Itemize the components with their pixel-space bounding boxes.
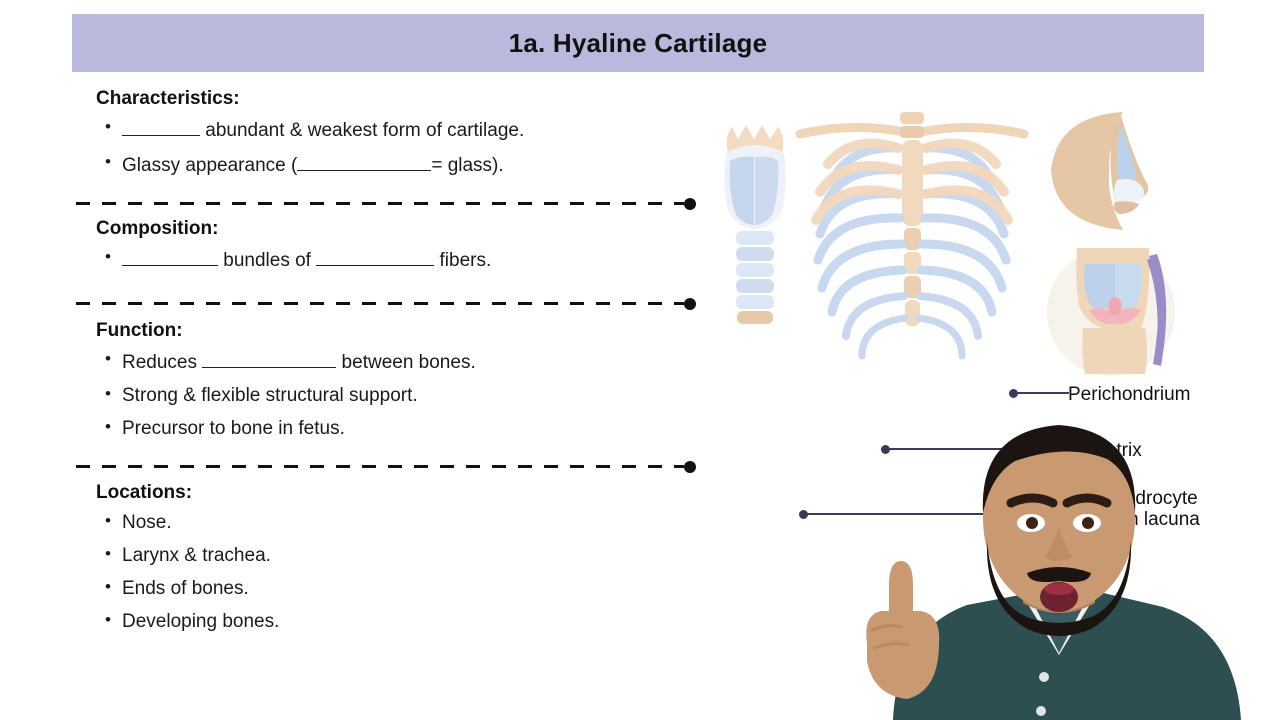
list-item: abundant & weakest form of cartilage. — [96, 116, 524, 145]
section-divider — [76, 202, 684, 205]
section-function: Function: Reduces between bones. Strong … — [96, 320, 476, 449]
leader-dot — [1009, 389, 1018, 398]
bullet-list: Nose. Larynx & trachea. Ends of bones. D… — [96, 510, 279, 636]
larynx-trachea-illustration — [714, 115, 804, 330]
fill-blank[interactable] — [122, 116, 200, 136]
section-heading: Characteristics: — [96, 88, 524, 110]
list-item: Strong & flexible structural support. — [96, 383, 476, 410]
divider-dot — [684, 298, 696, 310]
divider-dot — [684, 461, 696, 473]
divider-dot — [684, 198, 696, 210]
bullet-list: bundles of fibers. — [96, 246, 491, 275]
section-divider — [76, 465, 684, 468]
list-item: Nose. — [96, 510, 279, 537]
list-item: Ends of bones. — [96, 576, 279, 603]
fill-blank[interactable] — [316, 246, 434, 266]
section-heading: Composition: — [96, 218, 491, 240]
section-heading: Locations: — [96, 482, 279, 504]
fill-blank[interactable] — [297, 151, 431, 171]
label-perichondrium: Perichondrium — [1068, 383, 1191, 406]
section-heading: Function: — [96, 320, 476, 342]
slide-content-column: Characteristics: abundant & weakest form… — [0, 80, 710, 720]
list-item: bundles of fibers. — [96, 246, 491, 275]
bullet-list: abundant & weakest form of cartilage. Gl… — [96, 116, 524, 180]
section-composition: Composition: bundles of fibers. — [96, 218, 491, 281]
list-item: Reduces between bones. — [96, 348, 476, 377]
nose-profile-illustration — [1037, 106, 1187, 236]
list-item: Glassy appearance (= glass). — [96, 151, 524, 180]
leader-dot — [799, 510, 808, 519]
leader-line-perichondrium — [1013, 392, 1069, 394]
rib-cage-illustration — [792, 104, 1032, 379]
section-divider — [76, 302, 684, 305]
list-item: Developing bones. — [96, 609, 279, 636]
list-item: Precursor to bone in fetus. — [96, 416, 476, 443]
fill-blank[interactable] — [122, 246, 218, 266]
list-item: Larynx & trachea. — [96, 543, 279, 570]
section-characteristics: Characteristics: abundant & weakest form… — [96, 88, 524, 186]
section-locations: Locations: Nose. Larynx & trachea. Ends … — [96, 482, 279, 642]
knee-joint-illustration — [1045, 244, 1185, 379]
presenter-figure — [845, 415, 1280, 720]
presenter-video-overlay — [845, 415, 1280, 720]
fill-blank[interactable] — [202, 348, 336, 368]
bullet-list: Reduces between bones. Strong & flexible… — [96, 348, 476, 443]
